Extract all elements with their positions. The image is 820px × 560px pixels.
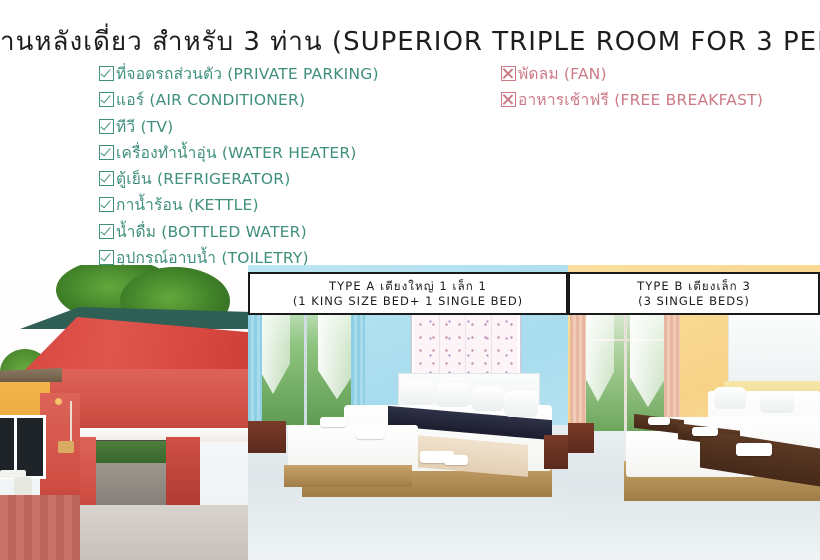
- type-b-photo-panel: TYPE B เตียงเล็ก 3 (3 SINGLE BEDS): [568, 265, 820, 560]
- type-a-caption: TYPE A เตียงใหญ่ 1 เล็ก 1 (1 KING SIZE B…: [248, 272, 568, 315]
- house-exterior-photo: [0, 265, 248, 560]
- folded-towel: [320, 417, 346, 427]
- carport-back-wall: [96, 463, 166, 505]
- checkbox-checked-icon: [99, 145, 114, 160]
- amenity-label: ตู้เย็น (REFRIGERATOR): [116, 166, 290, 192]
- nightstand: [544, 435, 568, 469]
- list-item: กาน้ำร้อน (KETTLE): [99, 192, 379, 218]
- list-item: เครื่องทำน้ำอุ่น (WATER HEATER): [99, 140, 379, 166]
- amenity-label: ที่จอดรถส่วนตัว (PRIVATE PARKING): [116, 61, 379, 87]
- list-item: อาหารเช้าฟรี (FREE BREAKFAST): [501, 87, 763, 113]
- window-mullion: [14, 415, 17, 473]
- amenity-label: ทีวี (TV): [116, 114, 173, 140]
- pillow: [472, 387, 504, 411]
- list-item: น้ำดื่ม (BOTTLED WATER): [99, 219, 379, 245]
- outdoor-sign: [58, 441, 74, 453]
- wall-lamp-icon: [55, 398, 62, 405]
- list-item: ตู้เย็น (REFRIGERATOR): [99, 166, 379, 192]
- single-bed-platform: [284, 465, 412, 487]
- caption-line-1: TYPE B เตียงเล็ก 3: [637, 279, 751, 294]
- checkbox-checked-icon: [99, 66, 114, 81]
- amenity-label: อาหารเช้าฟรี (FREE BREAKFAST): [518, 87, 763, 113]
- caption-line-2: (3 SINGLE BEDS): [638, 294, 750, 309]
- exterior-photo-panel: [0, 265, 248, 560]
- checkbox-checked-icon: [99, 171, 114, 186]
- driveway: [60, 505, 248, 560]
- wall-headboard-panel: [728, 311, 820, 389]
- checkbox-checked-icon: [99, 250, 114, 265]
- amenity-label: พัดลม (FAN): [518, 61, 607, 87]
- folded-towel: [648, 417, 670, 425]
- pillow: [504, 391, 538, 417]
- checkbox-crossed-icon: [501, 66, 516, 81]
- pillow: [436, 383, 470, 407]
- room-info-graphic: านหลังเดี่ยว สำหรับ 3 ท่าน (SUPERIOR TRI…: [0, 0, 820, 560]
- type-a-photo-panel: TYPE A เตียงใหญ่ 1 เล็ก 1 (1 KING SIZE B…: [248, 265, 568, 560]
- photo-strip: TYPE A เตียงใหญ่ 1 เล็ก 1 (1 KING SIZE B…: [0, 265, 820, 560]
- nightstand: [248, 421, 286, 453]
- amenity-label: น้ำดื่ม (BOTTLED WATER): [116, 219, 307, 245]
- list-item: แอร์ (AIR CONDITIONER): [99, 87, 379, 113]
- amenity-label: กาน้ำร้อน (KETTLE): [116, 192, 259, 218]
- checkbox-checked-icon: [99, 224, 114, 239]
- page-title: านหลังเดี่ยว สำหรับ 3 ท่าน (SUPERIOR TRI…: [0, 22, 820, 62]
- list-item: ที่จอดรถส่วนตัว (PRIVATE PARKING): [99, 61, 379, 87]
- folded-towel: [692, 427, 718, 436]
- checkbox-checked-icon: [99, 119, 114, 134]
- type-b-caption: TYPE B เตียงเล็ก 3 (3 SINGLE BEDS): [568, 272, 820, 315]
- pillow: [760, 391, 794, 413]
- checkbox-crossed-icon: [501, 92, 516, 107]
- caption-line-2: (1 KING SIZE BED+ 1 SINGLE BED): [293, 294, 523, 309]
- checkbox-checked-icon: [99, 197, 114, 212]
- checkbox-checked-icon: [99, 92, 114, 107]
- list-item: ทีวี (TV): [99, 114, 379, 140]
- folded-towel: [736, 443, 772, 456]
- single-bed: [288, 425, 418, 469]
- list-item: พัดลม (FAN): [501, 61, 763, 87]
- folded-towel: [356, 429, 384, 439]
- pillow: [714, 387, 746, 409]
- pillow: [400, 381, 434, 405]
- amenity-label: เครื่องทำน้ำอุ่น (WATER HEATER): [116, 140, 357, 166]
- caption-line-1: TYPE A เตียงใหญ่ 1 เล็ก 1: [329, 279, 487, 294]
- folded-towel: [444, 455, 468, 465]
- amenity-label: แอร์ (AIR CONDITIONER): [116, 87, 305, 113]
- wall-art-pattern: [414, 305, 518, 373]
- included-amenities-list: ที่จอดรถส่วนตัว (PRIVATE PARKING) แอร์ (…: [99, 61, 379, 271]
- nightstand: [568, 423, 594, 453]
- terrace-brick: [0, 495, 80, 560]
- downspout: [70, 401, 72, 445]
- excluded-amenities-list: พัดลม (FAN) อาหารเช้าฟรี (FREE BREAKFAST…: [501, 61, 763, 114]
